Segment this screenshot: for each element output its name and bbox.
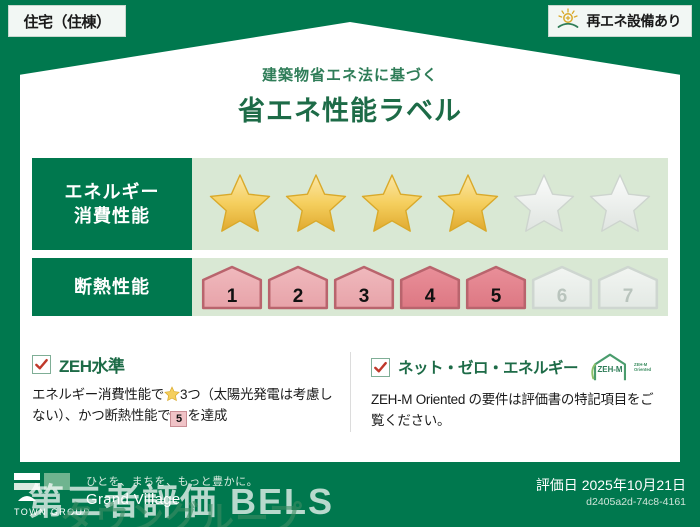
energy-label-line2: 消費性能 (74, 204, 150, 228)
insulation-label-text: 断熱性能 (74, 275, 150, 299)
solar-sun-icon (555, 7, 581, 36)
star-icon-empty (588, 173, 652, 235)
insulation-step-empty: 6 (530, 264, 594, 310)
title-subtitle: 建築物省エネ法に基づく (0, 64, 700, 85)
rating-rows: エネルギー 消費性能 断熱性能 1234567 (32, 158, 668, 324)
town-group-name: TOWN GROUP (14, 507, 91, 517)
check-icon (32, 355, 51, 374)
town-group-logo: TOWN GROUP (14, 471, 91, 517)
insulation-grade-chip: 5 (170, 411, 187, 427)
insulation-step-rating: 1234567 (192, 258, 668, 316)
star-icon-empty (512, 173, 576, 235)
check-icon (371, 358, 390, 377)
zeh-text-c: を達成 (187, 408, 227, 423)
energy-star-rating (192, 158, 668, 250)
net-zero-energy-column: ネット・ゼロ・エネルギー ZEH-M ZEH-M Oriented ZEH-M … (350, 352, 668, 432)
zehm-sub-line2: Oriented (634, 367, 651, 372)
net-zero-energy-description: ZEH-M Oriented の要件は評価書の特記項目をご覧ください。 (371, 390, 654, 432)
insulation-step-filled: 1 (200, 264, 264, 310)
zeh-text-a: エネルギー消費性能で (32, 387, 164, 402)
energy-performance-label: エネルギー 消費性能 (32, 158, 192, 250)
energy-label-line1: エネルギー (65, 180, 160, 204)
insulation-step-empty: 7 (596, 264, 660, 310)
evaluation-id: d2405a2d-74c8-4161 (586, 496, 686, 508)
insulation-step-filled: 4 (398, 264, 462, 310)
net-zero-energy-heading: ネット・ゼロ・エネルギー ZEH-M ZEH-M Oriented (371, 352, 654, 382)
footer-bar: TOWN GROUP ひとを、まちを、もっと豊かに。 Grand Village… (0, 465, 700, 527)
svg-text:ZEH-M: ZEH-M (597, 365, 622, 374)
title-main: 省エネ性能ラベル (0, 89, 700, 128)
renewable-badge-label: 再エネ設備あり (587, 11, 682, 31)
footer-brand-name: Grand Village (86, 491, 181, 508)
star-icon (164, 386, 180, 402)
star-icon-filled (436, 173, 500, 235)
energy-performance-row: エネルギー 消費性能 (32, 158, 668, 250)
zehm-logo-subtext: ZEH-M Oriented (634, 362, 651, 373)
insulation-step-filled: 2 (266, 264, 330, 310)
zeh-standard-title: ZEH水準 (59, 352, 125, 377)
energy-label-card: 住宅（住棟） 再エネ設備あり 建築物省エネ法に基づく 省エネ性能ラベル (0, 0, 700, 527)
zehm-sub-line1: ZEH-M (634, 362, 647, 367)
footer-tagline: ひとを、まちを、もっと豊かに。 (86, 473, 258, 489)
zeh-standard-description: エネルギー消費性能で3つ（太陽光発電は考慮しない）、かつ断熱性能で5を達成 (32, 385, 336, 427)
insulation-step-filled: 5 (464, 264, 528, 310)
zeh-standard-heading: ZEH水準 (32, 352, 336, 377)
insulation-performance-label: 断熱性能 (32, 258, 192, 316)
label-title-block: 建築物省エネ法に基づく 省エネ性能ラベル (0, 64, 700, 128)
star-icon-filled (284, 173, 348, 235)
insulation-performance-row: 断熱性能 1234567 (32, 258, 668, 316)
net-zero-energy-title: ネット・ゼロ・エネルギー (398, 356, 578, 378)
category-badge-label: 住宅（住棟） (23, 11, 110, 32)
renewable-equipment-badge: 再エネ設備あり (548, 5, 693, 37)
zeh-standard-column: ZEH水準 エネルギー消費性能で3つ（太陽光発電は考慮しない）、かつ断熱性能で5… (32, 352, 350, 432)
zehm-house-icon: ZEH-M ZEH-M Oriented (588, 352, 651, 382)
info-columns: ZEH水準 エネルギー消費性能で3つ（太陽光発電は考慮しない）、かつ断熱性能で5… (32, 352, 668, 432)
insulation-step-filled: 3 (332, 264, 396, 310)
category-badge: 住宅（住棟） (8, 5, 126, 37)
star-icon-filled (208, 173, 272, 235)
star-icon-filled (360, 173, 424, 235)
evaluation-date: 評価日 2025年10月21日 (536, 475, 686, 495)
